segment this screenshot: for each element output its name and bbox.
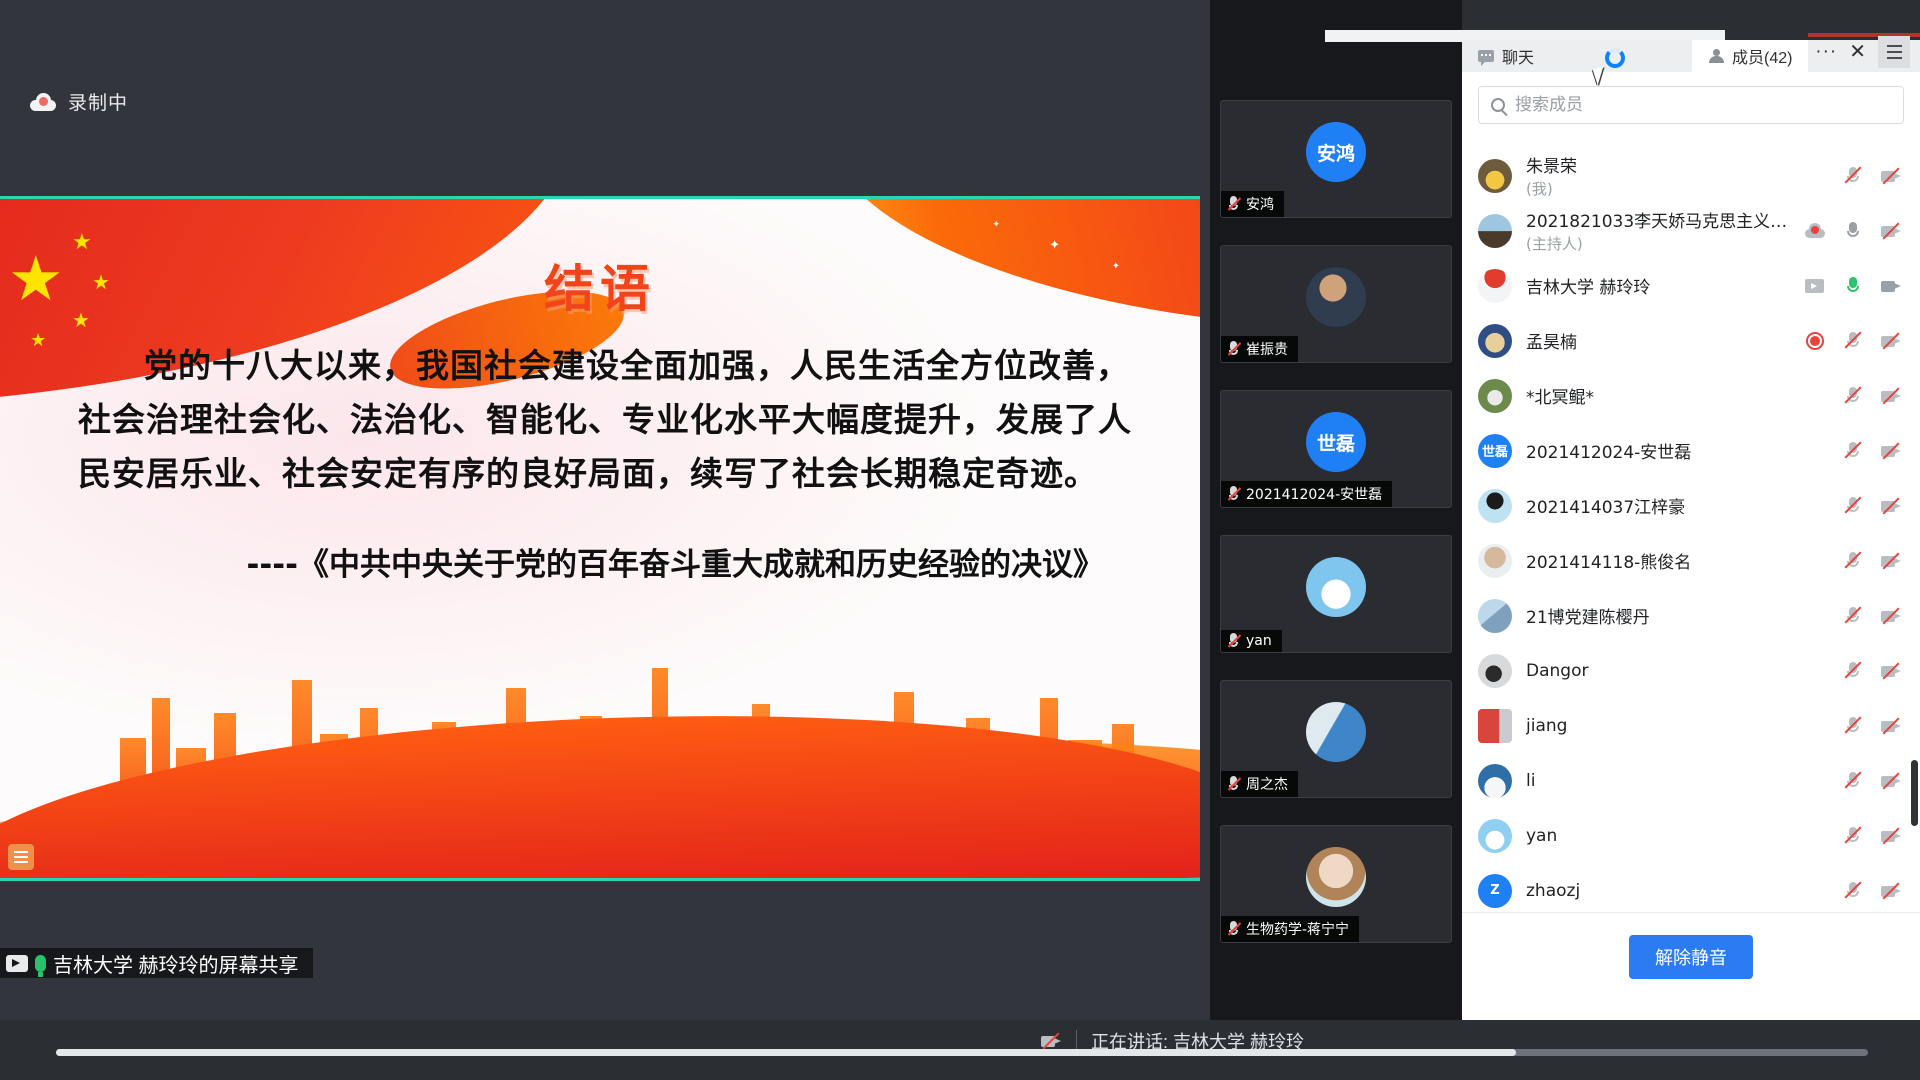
camera-off-icon[interactable] [1880, 441, 1902, 461]
member-name: 2021412024-安世磊 [1526, 438, 1828, 463]
member-names: zhaozj [1526, 881, 1828, 901]
avatar [1478, 489, 1512, 523]
member-name: 21博党建陈樱丹 [1526, 603, 1828, 628]
slide-title: 结语 [0, 249, 1200, 321]
member-status-icons [1842, 606, 1902, 626]
member-name: Dangor [1526, 661, 1828, 681]
loading-spinner-icon [1605, 48, 1625, 68]
member-status-icons [1804, 221, 1902, 241]
member-status-icons [1804, 331, 1902, 351]
mic-muted-icon[interactable] [1842, 331, 1864, 351]
search-icon [1491, 98, 1505, 112]
mic-active-icon[interactable] [1842, 276, 1864, 296]
avatar [1478, 324, 1512, 358]
mic-muted-icon [1227, 486, 1240, 502]
panel-footer: 解除静音 [1462, 912, 1920, 1020]
recording-dot-icon[interactable] [1804, 331, 1826, 351]
member-names: 2021414037江梓豪 [1526, 493, 1828, 518]
more-options-icon[interactable]: ··· [1815, 47, 1837, 57]
avatar: 安鸿 [1306, 122, 1366, 182]
camera-off-icon[interactable] [1880, 551, 1902, 571]
member-names: 2021821033李天娇马克思主义中国... (主持人) [1526, 207, 1790, 254]
slide-decoration-waves [0, 618, 1200, 878]
video-thumbnail-strip[interactable]: 安鸿 安鸿 崔振贵 世磊 2021412024-安世磊 ya [1210, 0, 1462, 1020]
mic-muted-icon [1227, 196, 1240, 212]
list-item[interactable]: li [1462, 753, 1920, 808]
mic-muted-icon[interactable] [1842, 386, 1864, 406]
list-item[interactable]: 2021821033李天娇马克思主义中国... (主持人) [1462, 203, 1920, 258]
camera-off-icon [1040, 1031, 1062, 1051]
avatar [1306, 267, 1366, 327]
camera-off-icon[interactable] [1880, 496, 1902, 516]
video-tile-name: yan [1246, 633, 1272, 649]
mic-active-icon [35, 955, 46, 972]
member-names: 21博党建陈樱丹 [1526, 603, 1828, 628]
avatar: Z [1478, 874, 1512, 908]
mic-muted-icon[interactable] [1842, 551, 1864, 571]
camera-off-icon[interactable] [1880, 386, 1902, 406]
mic-muted-icon[interactable] [1842, 496, 1864, 516]
video-tile-name: 崔振贵 [1246, 339, 1288, 359]
recording-label: 录制中 [68, 88, 128, 115]
avatar [1478, 269, 1512, 303]
member-name: 2021414118-熊俊名 [1526, 548, 1828, 573]
member-status-icons [1842, 551, 1902, 571]
member-status-icons [1804, 276, 1902, 296]
mic-muted-icon [1227, 921, 1240, 937]
chat-icon [1478, 50, 1494, 62]
shared-screen-stage: 录制中 ★ ★ ★ ★ ★ ✦ ✦ ✦ 结语 党的十八大以来，我国社会建设全面加… [0, 0, 1210, 1020]
camera-on-icon[interactable] [1880, 276, 1902, 296]
member-names: li [1526, 771, 1828, 791]
member-names: 吉林大学 赫玲玲 [1526, 273, 1790, 298]
slide-body: 党的十八大以来，我国社会建设全面加强，人民生活全方位改善，社会治理社会化、法治化… [78, 339, 1140, 501]
member-name: *北冥鲲* [1526, 383, 1828, 408]
cloud-recording-icon[interactable] [1804, 221, 1826, 241]
list-item[interactable]: 2021414118-熊俊名 [1462, 533, 1920, 588]
member-status-icons [1842, 826, 1902, 846]
mic-muted-icon[interactable] [1842, 166, 1864, 186]
list-item[interactable]: *北冥鲲* [1462, 368, 1920, 423]
member-name: 孟昊楠 [1526, 328, 1790, 353]
flag-star-4: ★ [30, 331, 46, 349]
screen-share-icon [6, 955, 28, 972]
list-item[interactable]: 吉林大学 赫玲玲 [1462, 258, 1920, 313]
mic-muted-icon[interactable] [1842, 826, 1864, 846]
member-list-scrollbar[interactable] [1911, 760, 1918, 826]
camera-off-icon[interactable] [1880, 881, 1902, 901]
video-tile-name: 2021412024-安世磊 [1246, 484, 1382, 504]
member-names: 2021414118-熊俊名 [1526, 548, 1828, 573]
avatar [1478, 709, 1512, 743]
participants-panel: 聊天 成员(42) ··· ✕ 朱景荣 (我) [1462, 40, 1920, 1020]
list-item[interactable]: 2021414037江梓豪 [1462, 478, 1920, 533]
sparkle-icon-3: ✦ [992, 219, 1000, 230]
slide-paragraph: 党的十八大以来，我国社会建设全面加强，人民生活全方位改善，社会治理社会化、法治化… [78, 339, 1140, 501]
recording-indicator: 录制中 [30, 88, 128, 115]
list-item[interactable]: 朱景荣 (我) [1462, 148, 1920, 203]
tab-members[interactable]: 成员(42) [1692, 40, 1808, 72]
video-tile[interactable]: 周之杰 [1220, 680, 1452, 798]
camera-off-icon[interactable] [1880, 221, 1902, 241]
video-tile-namebar: yan [1221, 630, 1282, 652]
screen-share-banner: 吉林大学 赫玲玲的屏幕共享 [0, 948, 313, 978]
avatar [1478, 379, 1512, 413]
tab-chat[interactable]: 聊天 [1462, 40, 1692, 72]
member-names: jiang [1526, 716, 1828, 736]
member-name: yan [1526, 826, 1828, 846]
list-item[interactable]: 世磊 2021412024-安世磊 [1462, 423, 1920, 478]
mic-muted-icon[interactable] [1842, 881, 1864, 901]
video-tile-namebar: 周之杰 [1221, 771, 1298, 797]
screen-share-icon[interactable] [1804, 276, 1826, 296]
avatar [1478, 159, 1512, 193]
member-list[interactable]: 朱景荣 (我) 2021821033李天娇马克思主义中国... (主持人) [1462, 148, 1920, 912]
mic-muted-icon[interactable] [1842, 716, 1864, 736]
member-name: 2021414037江梓豪 [1526, 493, 1828, 518]
video-tile-namebar: 安鸿 [1221, 191, 1284, 217]
avatar: 世磊 [1478, 434, 1512, 468]
video-tile[interactable]: 安鸿 安鸿 [1220, 100, 1452, 218]
member-names: yan [1526, 826, 1828, 846]
member-status-icons [1842, 441, 1902, 461]
list-item[interactable]: 孟昊楠 [1462, 313, 1920, 368]
tab-chat-label: 聊天 [1502, 44, 1534, 68]
progress-scrollbar[interactable] [56, 1049, 1868, 1056]
member-name: 吉林大学 赫玲玲 [1526, 273, 1790, 298]
video-tile-namebar: 生物药学-蒋宁宁 [1221, 916, 1359, 942]
mic-muted-icon[interactable] [1842, 661, 1864, 681]
avatar: 世磊 [1306, 412, 1366, 472]
video-tile[interactable]: 生物药学-蒋宁宁 [1220, 825, 1452, 943]
camera-off-icon[interactable] [1880, 826, 1902, 846]
member-search-wrap [1462, 72, 1920, 134]
member-status-icons [1842, 716, 1902, 736]
video-tile-name: 周之杰 [1246, 774, 1288, 794]
member-name: zhaozj [1526, 881, 1828, 901]
list-item[interactable]: Z zhaozj [1462, 863, 1920, 912]
people-icon [1708, 49, 1724, 63]
member-status-icons [1842, 386, 1902, 406]
mic-muted-icon[interactable] [1842, 606, 1864, 626]
member-status-icons [1842, 166, 1902, 186]
screen-share-label: 吉林大学 赫玲玲的屏幕共享 [53, 949, 299, 978]
camera-off-icon[interactable] [1880, 606, 1902, 626]
camera-off-icon[interactable] [1880, 331, 1902, 351]
mic-muted-icon [1227, 341, 1240, 357]
avatar [1306, 847, 1366, 907]
list-item[interactable]: yan [1462, 808, 1920, 863]
menu-icon[interactable] [1878, 36, 1910, 68]
member-name: 2021821033李天娇马克思主义中国... [1526, 207, 1790, 232]
avatar [1478, 544, 1512, 578]
mic-muted-icon[interactable] [1842, 771, 1864, 791]
mic-icon[interactable] [1842, 221, 1864, 241]
camera-off-icon[interactable] [1880, 166, 1902, 186]
member-names: 朱景荣 (我) [1526, 152, 1828, 199]
video-tile-name: 生物药学-蒋宁宁 [1246, 919, 1349, 939]
list-item[interactable]: Dangor [1462, 643, 1920, 698]
mic-muted-icon [1227, 776, 1240, 792]
presentation-slide: ★ ★ ★ ★ ★ ✦ ✦ ✦ 结语 党的十八大以来，我国社会建设全面加强，人民… [0, 196, 1200, 881]
close-icon[interactable]: ✕ [1849, 45, 1866, 59]
search-input[interactable] [1515, 95, 1891, 115]
member-status-icons [1842, 496, 1902, 516]
slide-source-citation: ----《中共中央关于党的百年奋斗重大成就和历史经验的决议》 [247, 539, 1104, 584]
list-item[interactable]: 21博党建陈樱丹 [1462, 588, 1920, 643]
mic-muted-icon [1227, 633, 1240, 649]
tab-members-label: 成员(42) [1732, 44, 1792, 68]
video-tile-namebar: 2021412024-安世磊 [1221, 481, 1392, 507]
video-tile[interactable]: 崔振贵 [1220, 245, 1452, 363]
member-role: (我) [1526, 178, 1828, 199]
video-tile-namebar: 崔振贵 [1221, 336, 1298, 362]
panel-tab-bar: 聊天 成员(42) ··· ✕ [1462, 40, 1920, 72]
member-name: jiang [1526, 716, 1828, 736]
video-tile[interactable]: 世磊 2021412024-安世磊 [1220, 390, 1452, 508]
meeting-window: 录制中 ★ ★ ★ ★ ★ ✦ ✦ ✦ 结语 党的十八大以来，我国社会建设全面加… [0, 0, 1920, 1080]
member-names: 孟昊楠 [1526, 328, 1790, 353]
camera-off-icon[interactable] [1880, 661, 1902, 681]
member-names: *北冥鲲* [1526, 383, 1828, 408]
cloud-recording-icon [30, 93, 56, 111]
camera-off-icon[interactable] [1880, 771, 1902, 791]
avatar [1306, 702, 1366, 762]
member-status-icons [1842, 881, 1902, 901]
avatar [1478, 764, 1512, 798]
member-role: (主持人) [1526, 233, 1790, 254]
member-search-box[interactable] [1478, 86, 1904, 124]
member-status-icons [1842, 771, 1902, 791]
progress-fill [56, 1049, 1516, 1056]
avatar [1478, 599, 1512, 633]
member-name: 朱景荣 [1526, 152, 1828, 177]
panel-window-controls: ··· ✕ [1815, 36, 1920, 72]
unmute-button[interactable]: 解除静音 [1629, 935, 1753, 979]
slide-list-icon[interactable] [8, 844, 34, 870]
member-names: 2021412024-安世磊 [1526, 438, 1828, 463]
avatar [1306, 557, 1366, 617]
avatar [1478, 819, 1512, 853]
video-tile-name: 安鸿 [1246, 194, 1274, 214]
member-names: Dangor [1526, 661, 1828, 681]
camera-off-icon[interactable] [1880, 716, 1902, 736]
avatar [1478, 214, 1512, 248]
mic-muted-icon[interactable] [1842, 441, 1864, 461]
video-tile[interactable]: yan [1220, 535, 1452, 653]
member-status-icons [1842, 661, 1902, 681]
avatar [1478, 654, 1512, 688]
member-name: li [1526, 771, 1828, 791]
list-item[interactable]: jiang [1462, 698, 1920, 753]
